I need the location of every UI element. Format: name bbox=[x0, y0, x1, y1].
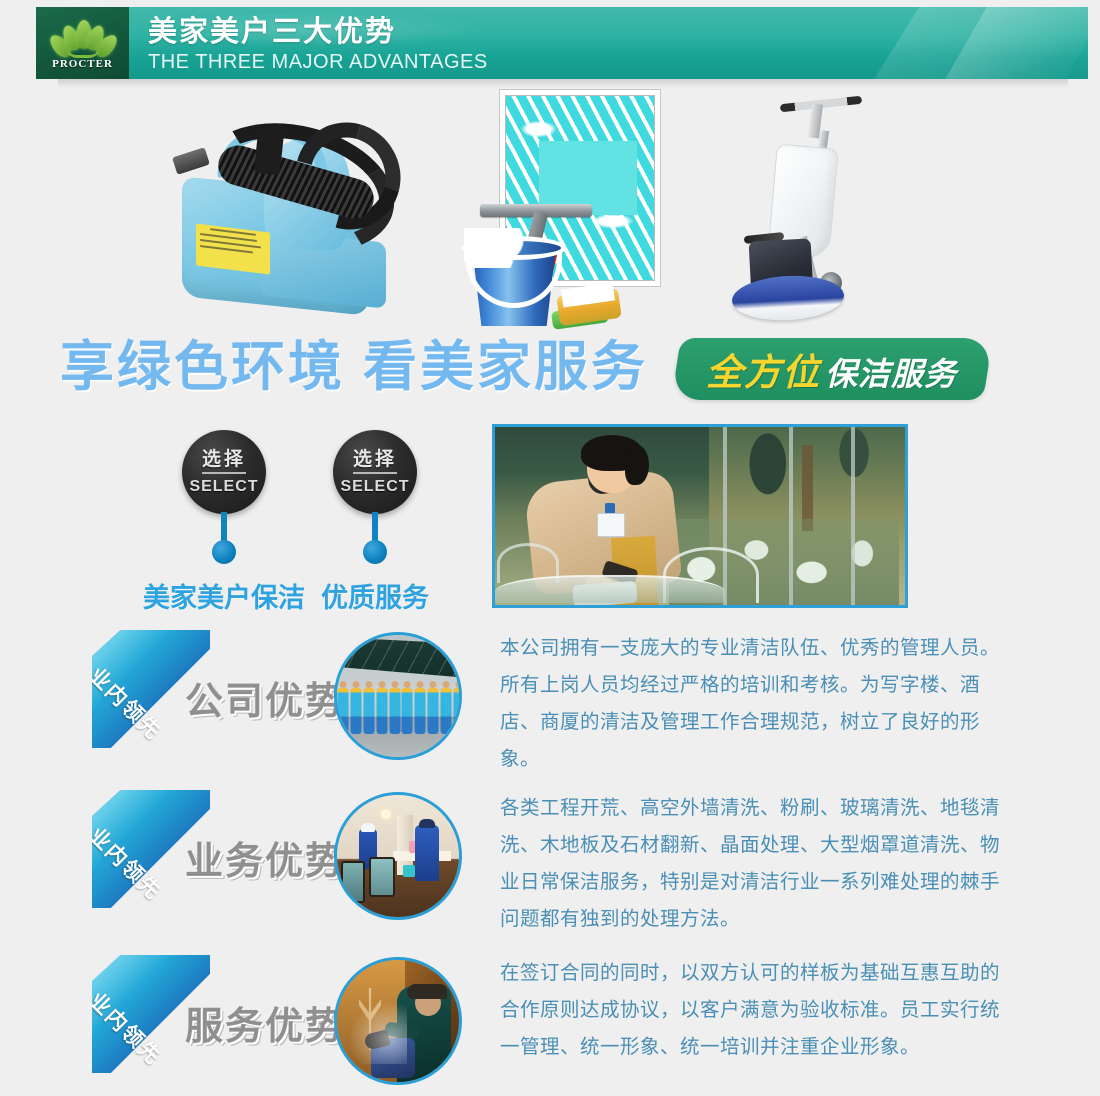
advantage-title-3: 服务优势 bbox=[185, 995, 345, 1050]
advantage-text-1: 本公司拥有一支庞大的专业清洁队伍、优秀的管理人员。所有上岗人员均经过严格的培训和… bbox=[500, 630, 1012, 778]
brand-name: PROCTER bbox=[52, 58, 113, 70]
leaves-icon bbox=[52, 17, 114, 57]
header-text-group: 美家美户三大优势 THE THREE MAJOR ADVANTAGES bbox=[148, 15, 488, 75]
header-title-en: THE THREE MAJOR ADVANTAGES bbox=[148, 49, 488, 75]
select-cn-label-1: 选择 bbox=[202, 449, 246, 474]
select-pin-2[interactable]: 选择 SELECT 优质服务 bbox=[333, 430, 417, 610]
advantage-text-2: 各类工程开荒、高空外墙清洗、粉刷、玻璃清洗、地毯清洗、木地板及石材翻新、晶面处理… bbox=[500, 790, 1012, 938]
product-image-strip bbox=[0, 86, 1100, 341]
select-cn-label-2: 选择 bbox=[353, 449, 397, 474]
pin-dot-2 bbox=[363, 540, 387, 564]
select-en-label-2: SELECT bbox=[340, 477, 409, 496]
badge-rest-text: 保洁服务 bbox=[825, 349, 957, 395]
pin-dot-1 bbox=[212, 540, 236, 564]
advantage-title-2: 业务优势 bbox=[185, 830, 345, 885]
badge-highlight-text: 全方位 bbox=[706, 342, 820, 396]
team-in-blue-uniforms-photo bbox=[334, 632, 462, 760]
advantage-row-business: 业内领先 业务优势 各类工程开荒、高空外墙清洗、粉刷、玻璃清洗、地毯清洗、木地板… bbox=[0, 790, 1100, 940]
sprayer-spec-label bbox=[196, 223, 270, 274]
brand-logo: PROCTER bbox=[36, 7, 129, 79]
cleaner-wiping-glass-table-photo bbox=[492, 424, 908, 608]
interior-cleaning-photo bbox=[334, 792, 462, 920]
header-title-cn: 美家美户三大优势 bbox=[148, 15, 488, 49]
floor-polisher-image bbox=[724, 90, 894, 336]
service-badge: 全方位 保洁服务 bbox=[671, 338, 993, 400]
promo-page: PROCTER 美家美户三大优势 THE THREE MAJOR ADVANTA… bbox=[0, 0, 1100, 1096]
pin-caption-1: 美家美户保洁 bbox=[143, 576, 305, 615]
select-en-label-1: SELECT bbox=[189, 477, 258, 496]
select-badge-circle-2[interactable]: 选择 SELECT bbox=[333, 430, 417, 514]
header-banner: PROCTER 美家美户三大优势 THE THREE MAJOR ADVANTA… bbox=[36, 7, 1088, 79]
polisher-pad bbox=[731, 273, 845, 323]
page-header: PROCTER 美家美户三大优势 THE THREE MAJOR ADVANTA… bbox=[36, 7, 1088, 79]
select-pin-1[interactable]: 选择 SELECT 美家美户保洁 bbox=[182, 430, 266, 610]
advantage-row-company: 业内领先 公司优势 本公司拥有一支庞大的专业清洁队伍、优秀的管理人员。所有上岗人… bbox=[0, 630, 1100, 780]
select-badge-circle-1[interactable]: 选择 SELECT bbox=[182, 430, 266, 514]
main-headline: 享绿色环境 看美家服务 bbox=[60, 336, 648, 398]
advantage-title-1: 公司优势 bbox=[185, 670, 345, 725]
advantage-row-service: 业内领先 服务优势 在签订合同的同时，以双方认可的样板为基础互惠互助的合作原则达… bbox=[0, 955, 1100, 1096]
spraying-disinfection-photo bbox=[334, 957, 462, 1085]
advantage-text-3: 在签订合同的同时，以双方认可的样板为基础互惠互助的合作原则达成协议，以客户满意为… bbox=[500, 955, 1012, 1066]
ulv-sprayer-image bbox=[168, 100, 418, 330]
pin-caption-2: 优质服务 bbox=[321, 576, 429, 615]
window-squeegee-bucket-image bbox=[452, 86, 702, 336]
